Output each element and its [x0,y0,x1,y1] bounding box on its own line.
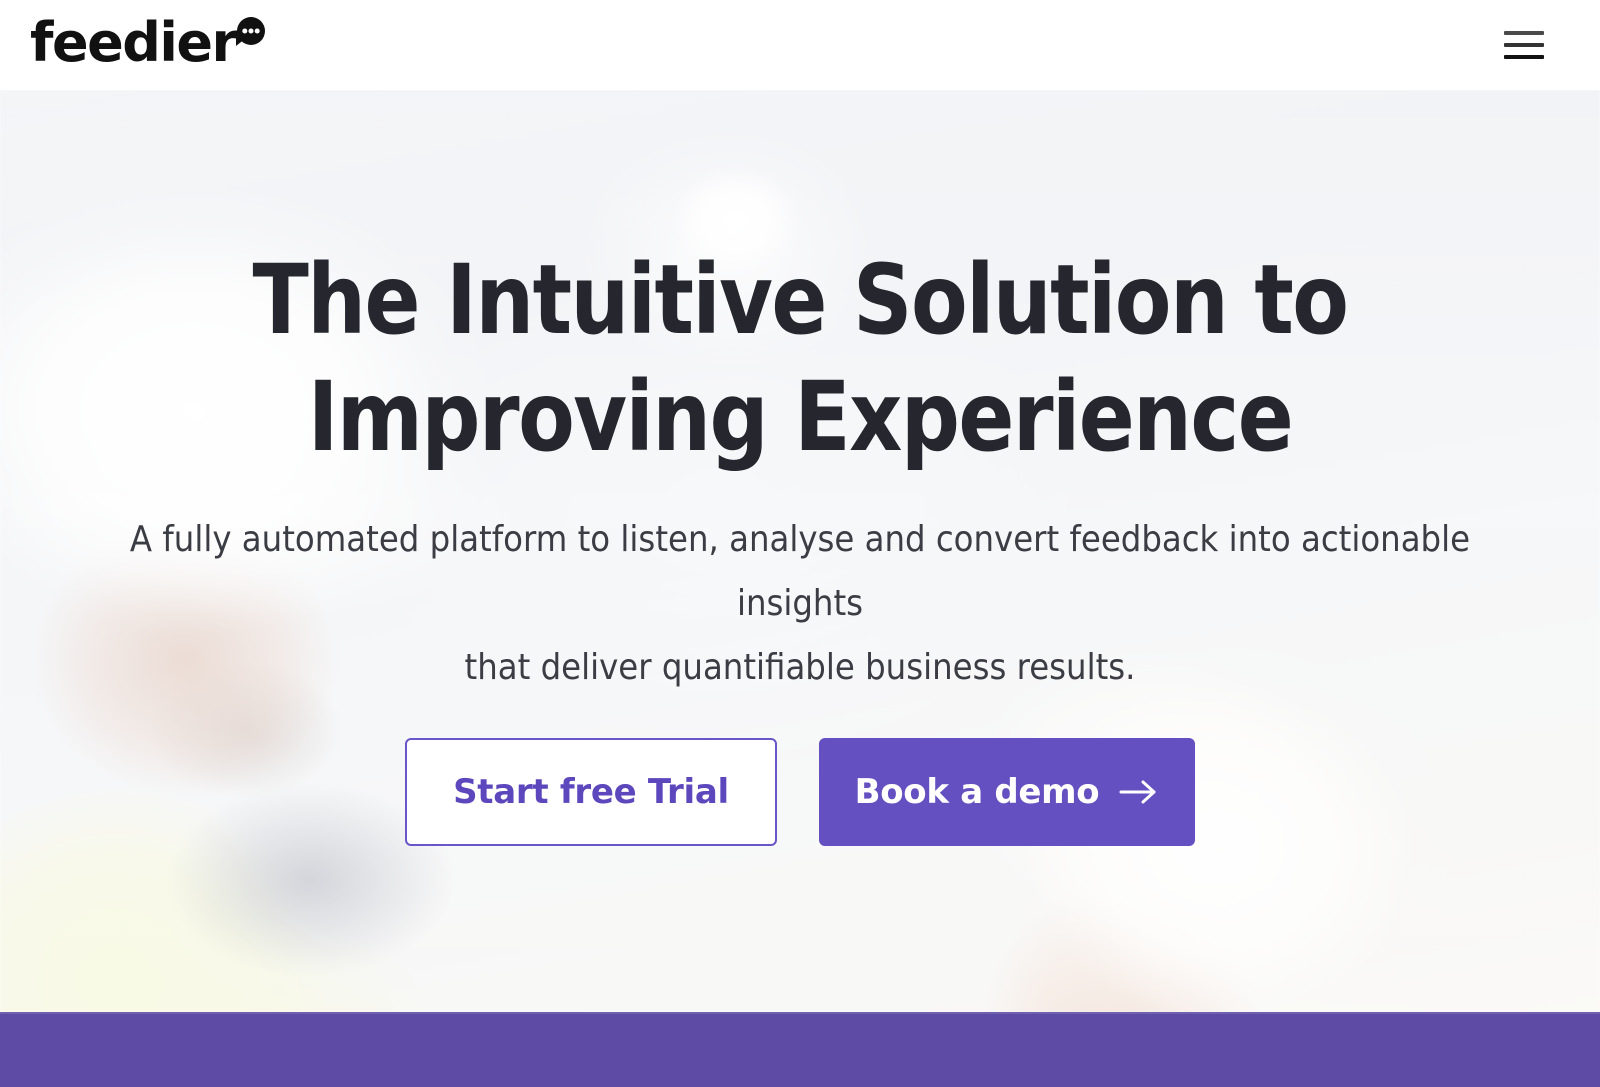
bottom-purple-band [0,1012,1600,1087]
hero-subtitle: A fully automated platform to listen, an… [125,508,1475,700]
hero-subtitle-line-2: that deliver quantifiable business resul… [465,647,1136,688]
hero-cta-group: Start free Trial Book a demo [0,738,1600,846]
hamburger-line-3 [1504,55,1544,59]
logo-text: feedier [30,16,237,70]
start-free-trial-label: Start free Trial [453,772,729,812]
landing-page: feedier The Intuitive Solution to [0,0,1600,1087]
bottom-band-top-edge [0,1012,1600,1014]
hamburger-menu-icon[interactable] [1504,26,1546,64]
logo[interactable]: feedier [30,8,260,80]
speech-bubble-three-dots-icon [228,14,268,54]
site-header: feedier [0,0,1600,90]
page-title-line-2: Improving Experience [308,361,1293,473]
hero-content: The Intuitive Solution to Improving Expe… [0,90,1600,1012]
page-title: The Intuitive Solution to Improving Expe… [112,242,1488,476]
hamburger-line-2 [1504,43,1544,47]
page-title-line-1: The Intuitive Solution to [253,244,1348,356]
hero-subtitle-line-1: A fully automated platform to listen, an… [130,519,1470,624]
book-a-demo-label: Book a demo [855,772,1100,812]
hero-section: The Intuitive Solution to Improving Expe… [0,90,1600,1012]
hamburger-line-1 [1504,31,1544,35]
arrow-right-icon [1119,778,1159,806]
book-a-demo-button[interactable]: Book a demo [819,738,1195,846]
start-free-trial-button[interactable]: Start free Trial [405,738,777,846]
